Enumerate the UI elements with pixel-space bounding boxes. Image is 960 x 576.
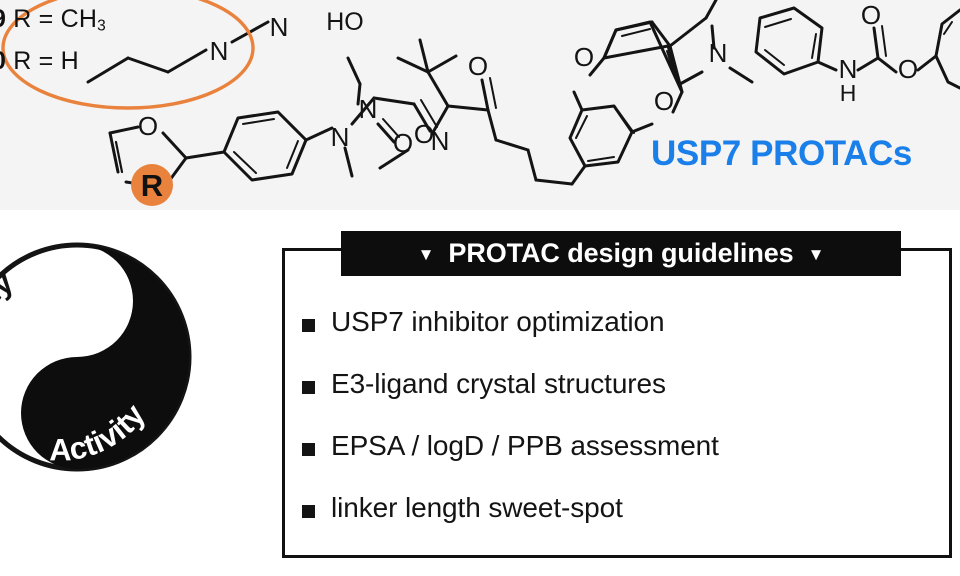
summary-panel: Solubility Activity ▼ PROTAC design guid… xyxy=(0,210,960,576)
atom-label-N: N xyxy=(331,122,350,152)
atom-label-O: O xyxy=(861,0,881,30)
atom-label-N: N xyxy=(270,12,289,42)
guidelines-header-bar: ▼ PROTAC design guidelines ▼ xyxy=(341,231,901,276)
list-item-label: E3-ligand crystal structures xyxy=(331,368,666,399)
compound-r-definition: R = H xyxy=(13,47,79,75)
graphical-abstract: N N O N N N O O O O O N N H O O HO xyxy=(0,0,960,576)
guidelines-header-title: PROTAC design guidelines xyxy=(448,238,793,269)
atom-label-O: O xyxy=(898,54,918,84)
atom-label-O: O xyxy=(138,111,158,141)
square-bullet-icon xyxy=(302,505,315,518)
square-bullet-icon xyxy=(302,381,315,394)
list-item-label: EPSA / logD / PPB assessment xyxy=(331,430,719,461)
compound-r-definition: R = CH xyxy=(13,5,97,33)
atom-label-N: N xyxy=(709,38,728,68)
atom-label-HO: HO xyxy=(326,8,364,36)
chevron-down-icon-right: ▼ xyxy=(808,246,825,263)
compound-number: 9 xyxy=(0,5,6,33)
compound-subscript: 3 xyxy=(97,17,106,34)
atom-label-O: O xyxy=(414,119,434,149)
list-item: USP7 inhibitor optimization xyxy=(302,306,922,368)
list-item-label: linker length sweet-spot xyxy=(331,492,623,523)
yin-yang-diagram: Solubility Activity xyxy=(0,222,212,492)
atom-label-N: N xyxy=(359,94,378,124)
square-bullet-icon xyxy=(302,319,315,332)
compound-label-9: 9 R = CH3 xyxy=(0,5,106,35)
list-item: linker length sweet-spot xyxy=(302,492,922,554)
compound-label-10: 0 R = H xyxy=(0,47,79,76)
atom-label-O: O xyxy=(654,86,674,116)
atom-label-O: O xyxy=(393,128,413,158)
list-item-label: USP7 inhibitor optimization xyxy=(331,306,664,337)
chemical-scheme-panel: N N O N N N O O O O O N N H O O HO xyxy=(0,0,960,210)
chemical-structure-diagram: N N O N N N O O O O O N N H O O HO xyxy=(0,0,960,210)
r-group-badge-label: R xyxy=(141,168,163,203)
list-item: EPSA / logD / PPB assessment xyxy=(302,430,922,492)
atom-label-N: N xyxy=(210,36,229,66)
compound-number: 0 xyxy=(0,47,6,75)
atom-label-H: H xyxy=(840,80,857,106)
chevron-down-icon-left: ▼ xyxy=(418,246,435,263)
guidelines-list: USP7 inhibitor optimization E3-ligand cr… xyxy=(302,306,922,554)
atom-label-O: O xyxy=(574,42,594,72)
atom-label-O: O xyxy=(468,51,488,81)
list-item: E3-ligand crystal structures xyxy=(302,368,922,430)
square-bullet-icon xyxy=(302,443,315,456)
page-title: USP7 PROTACs xyxy=(651,134,912,174)
